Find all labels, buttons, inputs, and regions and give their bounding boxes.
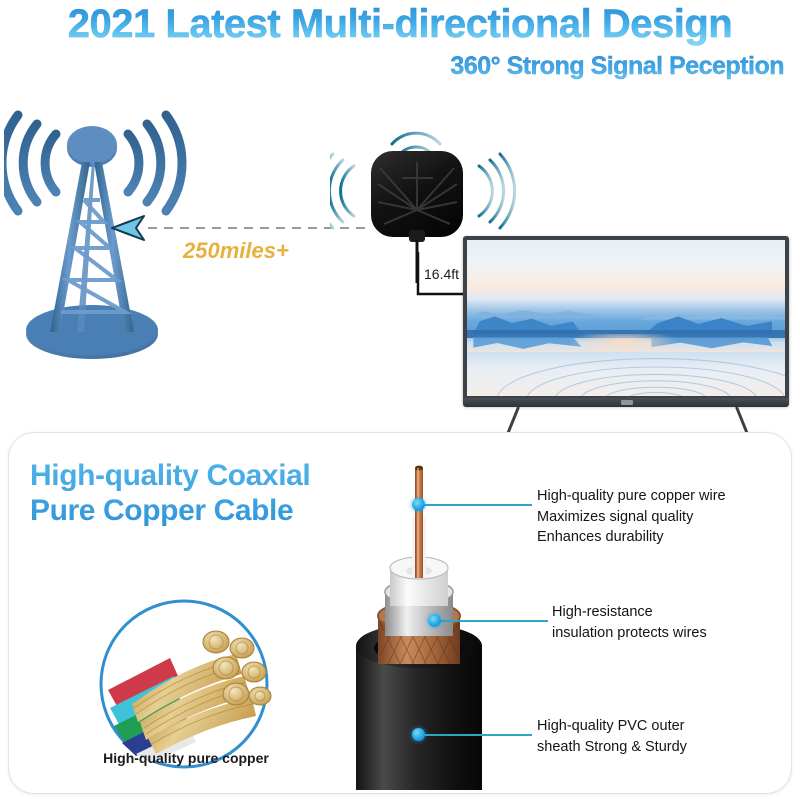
cable-length-label: 16.4ft (424, 266, 459, 282)
copper-inset-caption: High-quality pure copper (66, 750, 306, 766)
leader-marker-2 (428, 614, 441, 627)
distance-label: 250miles+ (183, 238, 289, 264)
screen-mountain-right (639, 312, 785, 320)
television-icon (457, 236, 797, 432)
page-title: 2021 Latest Multi-directional Design (0, 2, 800, 47)
tv-brand-logo (621, 400, 633, 405)
page-subtitle: 360° Strong Signal Peception (0, 52, 800, 81)
screen-ripples (467, 349, 785, 396)
tv-leg-right (735, 406, 748, 433)
cable-section-title: High-quality Coaxial Pure Copper Cable (30, 458, 310, 529)
tv-frame (463, 236, 789, 406)
annotation-insulation: High-resistance insulation protects wire… (552, 602, 707, 643)
screen-mountain-left (467, 309, 594, 318)
annotation-pvc-sheath: High-quality PVC outer sheath Strong & S… (537, 716, 687, 757)
cable-title-line1: High-quality Coaxial (30, 459, 310, 492)
tv-leg-left (507, 406, 520, 433)
infographic-canvas: 2021 Latest Multi-directional Design 360… (0, 0, 800, 800)
tv-screen (467, 240, 785, 396)
leader-line-3 (422, 734, 532, 736)
leader-marker-1 (412, 498, 425, 511)
cable-title-line2: Pure Copper Cable (30, 494, 293, 527)
leader-marker-3 (412, 728, 425, 741)
annotation-copper-wire: High-quality pure copper wire Maximizes … (537, 486, 726, 548)
leader-line-1 (422, 504, 532, 506)
leader-line-2 (438, 620, 548, 622)
